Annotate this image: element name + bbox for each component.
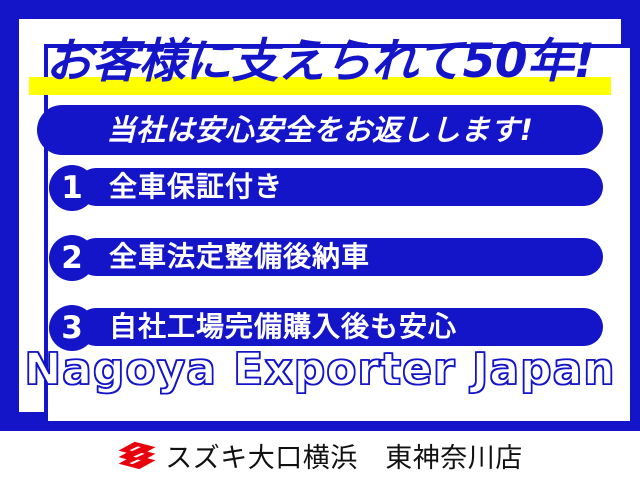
item-label: 全車法定整備後納車 bbox=[109, 238, 370, 276]
suzuki-s-logo-icon bbox=[117, 441, 157, 471]
poster-content: お客様に支えられて50年! 当社は安心安全をお返しします! 1 全車保証付き 2… bbox=[29, 29, 611, 402]
dealer-footer: スズキ大口横浜 東神奈川店 bbox=[0, 431, 640, 480]
item-label: 自社工場完備購入後も安心 bbox=[109, 308, 457, 346]
promotional-poster: お客様に支えられて50年! 当社は安心安全をお返しします! 1 全車保証付き 2… bbox=[0, 0, 640, 480]
list-item: 1 全車保証付き bbox=[49, 165, 603, 209]
item-label: 全車保証付き bbox=[109, 168, 283, 206]
item-number-badge: 3 bbox=[49, 305, 95, 351]
page-title: お客様に支えられて50年! bbox=[29, 29, 611, 97]
list-item: 3 自社工場完備購入後も安心 bbox=[49, 305, 603, 349]
headline-block: お客様に支えられて50年! bbox=[29, 29, 611, 97]
item-number-badge: 1 bbox=[49, 165, 95, 211]
subtitle-pill: 当社は安心安全をお返しします! bbox=[37, 105, 603, 155]
dealer-name: スズキ大口横浜 東神奈川店 bbox=[165, 436, 523, 475]
item-number-badge: 2 bbox=[49, 235, 95, 281]
list-item: 2 全車法定整備後納車 bbox=[49, 235, 603, 279]
